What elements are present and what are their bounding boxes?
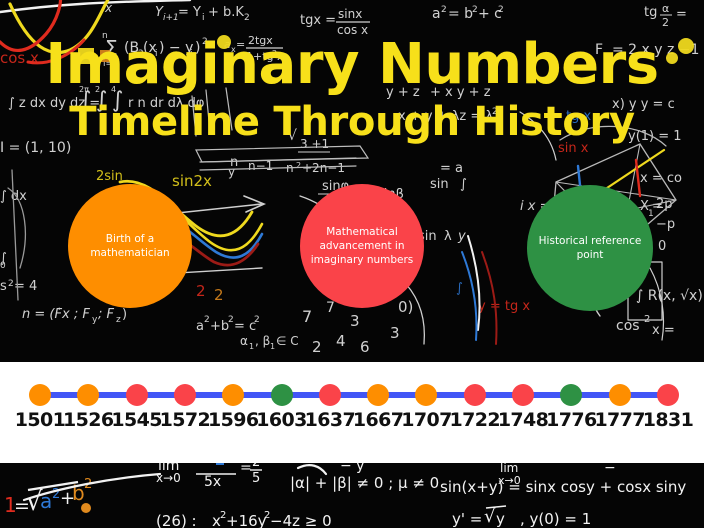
svg-text:1: 1: [249, 342, 254, 351]
svg-text:y: y: [496, 510, 505, 528]
svg-text:n: n: [230, 155, 238, 170]
svg-text:(26) :: (26) :: [156, 512, 197, 528]
legend-circle-advancement-label: Mathematical advancement in imaginary nu…: [306, 225, 418, 267]
svg-text:+16y: +16y: [226, 512, 267, 528]
svg-text:a: a: [432, 6, 441, 22]
legend-circle-birth: Birth of a mathematician: [68, 184, 192, 308]
svg-text:i+1: i+1: [163, 13, 179, 23]
svg-text:b: b: [72, 481, 85, 505]
svg-text:∈ C: ∈ C: [276, 334, 299, 348]
svg-text:+ c: + c: [478, 6, 502, 22]
svg-text:a: a: [40, 489, 52, 513]
svg-text:2: 2: [441, 5, 447, 15]
svg-text:√: √: [26, 487, 43, 517]
svg-text:x =: x =: [652, 323, 675, 338]
svg-text:tg: tg: [644, 5, 657, 20]
svg-text:tgx =: tgx =: [300, 13, 336, 28]
svg-text:+ b.K: + b.K: [208, 5, 244, 20]
svg-text:2: 2: [84, 477, 92, 492]
svg-text:2: 2: [472, 5, 478, 15]
timeline-dot-1722[interactable]: [464, 384, 486, 406]
svg-text:= Y: = Y: [178, 5, 201, 20]
svg-text:= c: = c: [234, 319, 256, 334]
svg-text:α: α: [662, 2, 669, 15]
legend-circle-reference-label: Historical reference point: [533, 234, 647, 262]
legend-circle-advancement: Mathematical advancement in imaginary nu…: [300, 184, 424, 308]
timeline-dot-1596[interactable]: [222, 384, 244, 406]
svg-text:+: +: [60, 488, 75, 509]
svg-text:2: 2: [244, 13, 250, 23]
timeline-dot-1572[interactable]: [174, 384, 196, 406]
svg-text:=: =: [14, 495, 30, 517]
legend-circle-reference: Historical reference point: [527, 185, 653, 311]
svg-text:2: 2: [220, 510, 226, 521]
svg-text:√: √: [484, 506, 496, 527]
svg-text:3: 3: [390, 324, 400, 342]
svg-text:1: 1: [270, 342, 275, 351]
svg-text:a: a: [196, 319, 204, 334]
svg-text:n−1: n−1: [248, 159, 273, 173]
svg-text:4: 4: [336, 332, 346, 350]
timeline-dot-1526[interactable]: [77, 384, 99, 406]
timeline-dot-1501[interactable]: [29, 384, 51, 406]
svg-text:i: i: [202, 13, 205, 23]
svg-text:x: x: [104, 1, 113, 15]
svg-text:Y: Y: [155, 5, 164, 20]
svg-text:x→0: x→0: [498, 474, 521, 487]
svg-text:2: 2: [312, 338, 322, 356]
svg-text:6: 6: [360, 338, 370, 356]
svg-text:y' =: y' =: [452, 510, 482, 528]
svg-text:y: y: [228, 165, 235, 179]
svg-text:−4z ≥ 0: −4z ≥ 0: [270, 512, 332, 528]
svg-text:2: 2: [52, 487, 60, 502]
legend-group: Birth of a mathematician Mathematical ad…: [0, 182, 704, 317]
timeline-year-1831: 1831: [636, 408, 700, 432]
svg-text:=: =: [676, 7, 687, 22]
svg-text:2: 2: [662, 16, 669, 29]
svg-text:1: 1: [4, 493, 17, 517]
poster-headline: Imaginary Numbers Timeline Through Histo…: [0, 34, 704, 148]
svg-text:+b: +b: [210, 319, 229, 334]
timeline-dot-1748[interactable]: [512, 384, 534, 406]
timeline-dot-1545[interactable]: [126, 384, 148, 406]
svg-text:= b: = b: [448, 6, 473, 22]
svg-text:x→0: x→0: [156, 471, 181, 485]
svg-text:x: x: [212, 512, 221, 528]
svg-text:α: α: [240, 334, 248, 348]
svg-text:5: 5: [252, 471, 260, 486]
svg-text:2: 2: [264, 510, 270, 521]
timeline-band: 1501152615451572159616031637166717071722…: [0, 362, 704, 463]
svg-text:= a: = a: [440, 161, 463, 176]
svg-text:sin(x+y) = sinx cosy + cosx si: sin(x+y) = sinx cosy + cosx siny: [440, 478, 686, 496]
timeline-dot-1831[interactable]: [657, 384, 679, 406]
svg-text:|α| + |β| ≠ 0 ; μ ≠ 0: |α| + |β| ≠ 0 ; μ ≠ 0: [290, 474, 439, 492]
legend-circle-birth-label: Birth of a mathematician: [74, 232, 186, 260]
timeline-dot-1637[interactable]: [319, 384, 341, 406]
svg-text:2: 2: [296, 161, 301, 170]
svg-text:, β: , β: [255, 334, 270, 348]
poster-canvas: Y i+1 = Y i + b.K 2 x Σ n i=1 (B 2 (x i …: [0, 0, 704, 528]
svg-text:2: 2: [498, 5, 504, 15]
timeline-dot-1707[interactable]: [415, 384, 437, 406]
svg-text:, y(0) = 1: , y(0) = 1: [520, 510, 591, 528]
svg-text:n: n: [286, 161, 294, 175]
svg-text:sinx: sinx: [338, 7, 362, 21]
svg-text:+2n−1: +2n−1: [302, 161, 345, 175]
page-subtitle: Timeline Through History: [0, 96, 704, 148]
svg-text:lim: lim: [500, 461, 518, 475]
page-title: Imaginary Numbers: [0, 34, 704, 96]
svg-text:cos: cos: [616, 318, 640, 334]
timeline-dot-1667[interactable]: [367, 384, 389, 406]
timeline-dot-1603[interactable]: [271, 384, 293, 406]
svg-text:5x: 5x: [204, 474, 221, 490]
timeline-dot-1776[interactable]: [560, 384, 582, 406]
timeline-dot-1777[interactable]: [609, 384, 631, 406]
